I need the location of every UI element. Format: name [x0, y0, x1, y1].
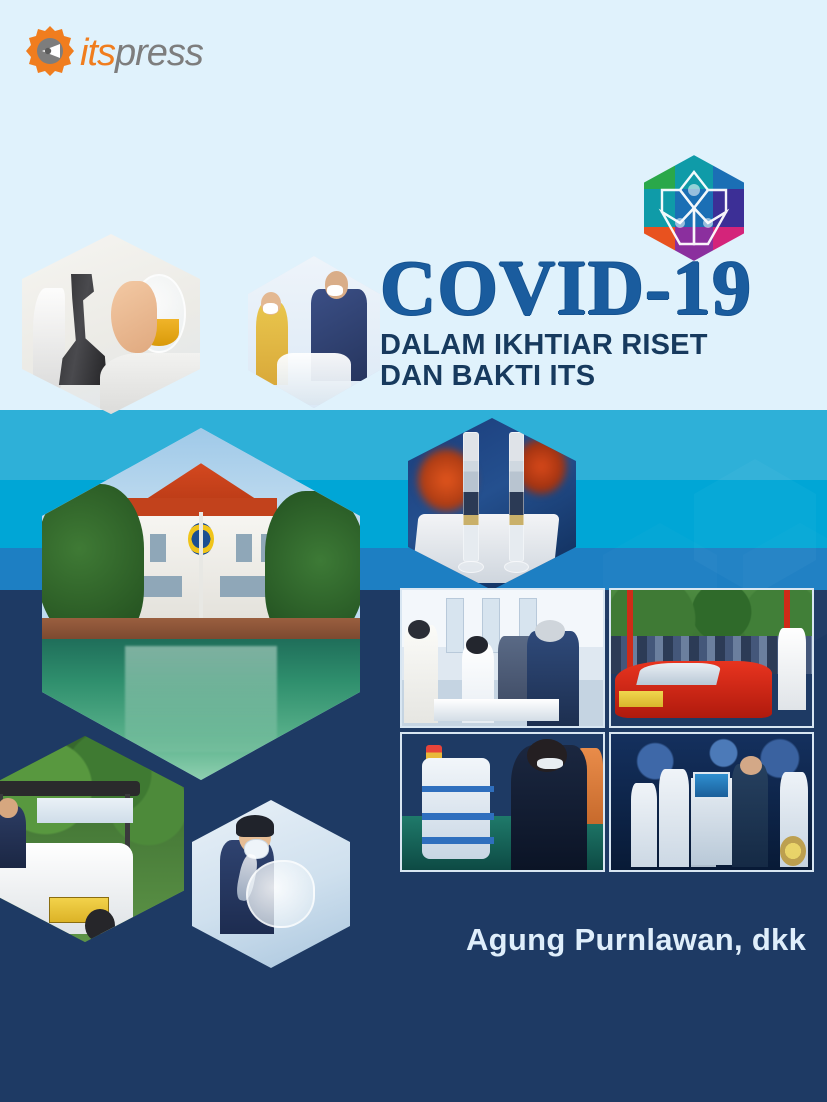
book-subtitle-line-2: DAN BAKTI ITS	[380, 361, 760, 392]
book-cover: itspress	[0, 0, 827, 1102]
publisher-logo: itspress	[22, 20, 242, 84]
publisher-name-its: its	[80, 32, 115, 74]
book-subtitle-line-1: DALAM IKHTIAR RISET	[380, 330, 760, 361]
publisher-logo-wordmark: itspress	[80, 32, 203, 75]
grid-photo-race-car	[609, 588, 814, 728]
author-name: Agung Purnlawan, dkk	[466, 922, 806, 958]
photo-grid	[400, 588, 814, 872]
publisher-name-press: press	[115, 32, 203, 74]
title-block: COVID-19 DALAM IKHTIAR RISET DAN BAKTI I…	[380, 252, 760, 392]
grid-photo-raisa-robot	[400, 732, 605, 872]
book-subtitle: DALAM IKHTIAR RISET DAN BAKTI ITS	[380, 330, 760, 393]
grid-photo-lab-visit	[400, 588, 605, 728]
gear-pen-nib-icon	[22, 24, 78, 80]
book-title: COVID-19	[380, 252, 760, 324]
grid-photo-medical-robot	[609, 732, 814, 872]
